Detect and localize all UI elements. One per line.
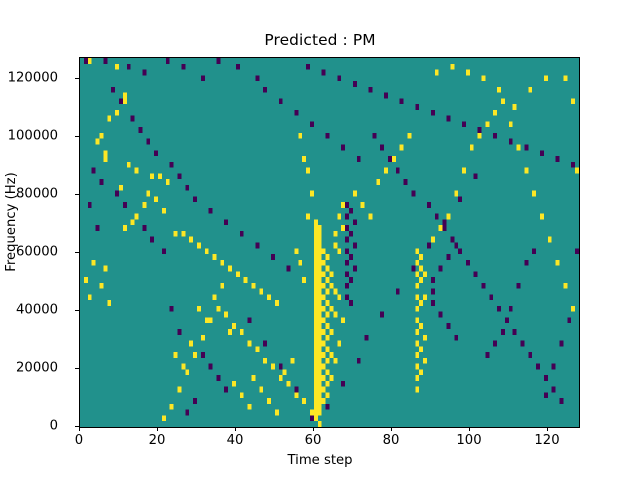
xtick-mark-80 — [391, 427, 392, 431]
ytick-mark-20000 — [75, 368, 79, 369]
heatmap-plot-area — [79, 57, 580, 428]
ytick-mark-40000 — [75, 310, 79, 311]
xtick-label-0: 0 — [75, 433, 83, 448]
xtick-mark-100 — [469, 427, 470, 431]
ytick-mark-0 — [75, 426, 79, 427]
xtick-mark-120 — [547, 427, 548, 431]
matplotlib-figure: Predicted : PM 0 20 40 60 80 100 120 0 2… — [0, 0, 640, 480]
xtick-mark-40 — [235, 427, 236, 431]
xtick-label-40: 40 — [227, 433, 244, 448]
xtick-label-100: 100 — [456, 433, 481, 448]
ytick-label-80000: 80000 — [16, 187, 58, 202]
ytick-label-40000: 40000 — [16, 303, 58, 318]
ytick-label-0: 0 — [50, 419, 58, 434]
ytick-mark-100000 — [75, 136, 79, 137]
xtick-mark-60 — [313, 427, 314, 431]
x-axis-label: Time step — [0, 453, 640, 468]
ytick-label-20000: 20000 — [16, 361, 58, 376]
xtick-label-20: 20 — [149, 433, 166, 448]
ytick-label-120000: 120000 — [8, 71, 58, 86]
page-title: Predicted : PM — [0, 31, 640, 49]
xtick-label-120: 120 — [534, 433, 559, 448]
xtick-label-60: 60 — [305, 433, 322, 448]
y-axis-label: Frequency (Hz) — [4, 122, 19, 322]
ytick-mark-80000 — [75, 194, 79, 195]
xtick-mark-20 — [157, 427, 158, 431]
ytick-label-60000: 60000 — [16, 245, 58, 260]
ytick-mark-120000 — [75, 78, 79, 79]
xtick-label-80: 80 — [383, 433, 400, 448]
ytick-mark-60000 — [75, 252, 79, 253]
heatmap-image — [80, 58, 579, 427]
xtick-mark-0 — [79, 427, 80, 431]
